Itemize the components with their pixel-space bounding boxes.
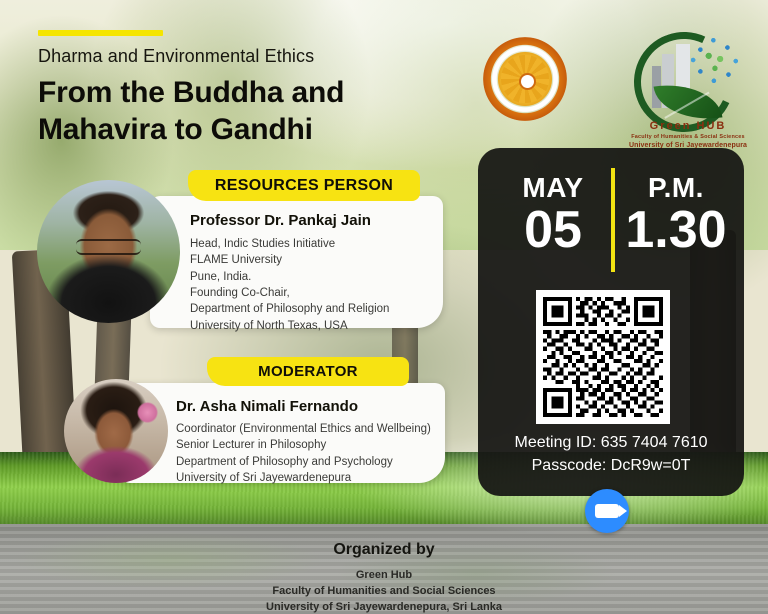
organizer-line: Green Hub bbox=[0, 568, 768, 584]
green-hub-faculty: Faculty of Humanities & Social Sciences bbox=[628, 134, 748, 140]
flower-decoration bbox=[137, 402, 158, 423]
organizer-line: University of Sri Jayewardenepura, Sri L… bbox=[0, 600, 768, 614]
organized-by-title: Organized by bbox=[0, 541, 768, 559]
university-seal-icon bbox=[483, 37, 567, 121]
moderator-badge: MODERATOR bbox=[207, 357, 409, 386]
date-time-block: MAY 05 P.M. 1.30 bbox=[478, 160, 744, 278]
meeting-passcode: Passcode: DcR9w=0T bbox=[478, 455, 744, 478]
moderator-avatar bbox=[64, 379, 168, 483]
meeting-details: Meeting ID: 635 7404 7610 Passcode: DcR9… bbox=[478, 432, 744, 477]
glasses-icon bbox=[76, 239, 142, 256]
network-dots-icon bbox=[690, 34, 742, 86]
green-hub-logo-icon: Green HUB Faculty of Humanities & Social… bbox=[628, 30, 748, 148]
detail-line: Head, Indic Studies Initiative bbox=[190, 236, 389, 252]
resources-person-avatar bbox=[37, 180, 180, 323]
meeting-id: Meeting ID: 635 7404 7610 bbox=[478, 432, 744, 455]
qr-code[interactable] bbox=[536, 290, 670, 424]
zoom-video-camera-icon[interactable] bbox=[585, 489, 629, 533]
detail-line: Pune, India. bbox=[190, 269, 389, 285]
event-time: 1.30 bbox=[618, 204, 734, 256]
moderator-details: Coordinator (Environmental Ethics and We… bbox=[176, 421, 431, 486]
accent-bar bbox=[38, 30, 163, 36]
detail-line: Founding Co-Chair, bbox=[190, 285, 389, 301]
green-hub-name: Green HUB bbox=[628, 120, 748, 132]
detail-line: Department of Philosophy and Psychology bbox=[176, 454, 431, 470]
poster-kicker: Dharma and Environmental Ethics bbox=[38, 46, 314, 67]
detail-line: Department of Philosophy and Religion bbox=[190, 301, 389, 317]
resources-person-badge: RESOURCES PERSON bbox=[188, 170, 420, 201]
detail-line: University of North Texas, USA bbox=[190, 318, 389, 334]
qr-code-image bbox=[543, 297, 663, 417]
date-time-divider bbox=[611, 168, 615, 272]
detail-line: University of Sri Jayewardenepura bbox=[176, 470, 431, 486]
seal-core bbox=[519, 73, 536, 90]
detail-line: FLAME University bbox=[190, 252, 389, 268]
headline-line-2: Mahavira to Gandhi bbox=[38, 111, 344, 148]
page-title: From the Buddha and Mahavira to Gandhi bbox=[38, 74, 344, 148]
event-poster: Dharma and Environmental Ethics From the… bbox=[0, 0, 768, 614]
resources-person-name: Professor Dr. Pankaj Jain bbox=[190, 212, 371, 229]
event-ampm: P.M. bbox=[618, 172, 734, 204]
organizer-line: Faculty of Humanities and Social Science… bbox=[0, 584, 768, 600]
moderator-name: Dr. Asha Nimali Fernando bbox=[176, 398, 358, 415]
detail-line: Senior Lecturer in Philosophy bbox=[176, 437, 431, 453]
event-month: MAY bbox=[498, 172, 608, 204]
organizer-details: Green Hub Faculty of Humanities and Soci… bbox=[0, 568, 768, 614]
detail-line: Coordinator (Environmental Ethics and We… bbox=[176, 421, 431, 437]
camera-glyph bbox=[595, 504, 619, 518]
resources-person-details: Head, Indic Studies Initiative FLAME Uni… bbox=[190, 236, 389, 334]
event-day: 05 bbox=[498, 204, 608, 256]
headline-line-1: From the Buddha and bbox=[38, 74, 344, 111]
